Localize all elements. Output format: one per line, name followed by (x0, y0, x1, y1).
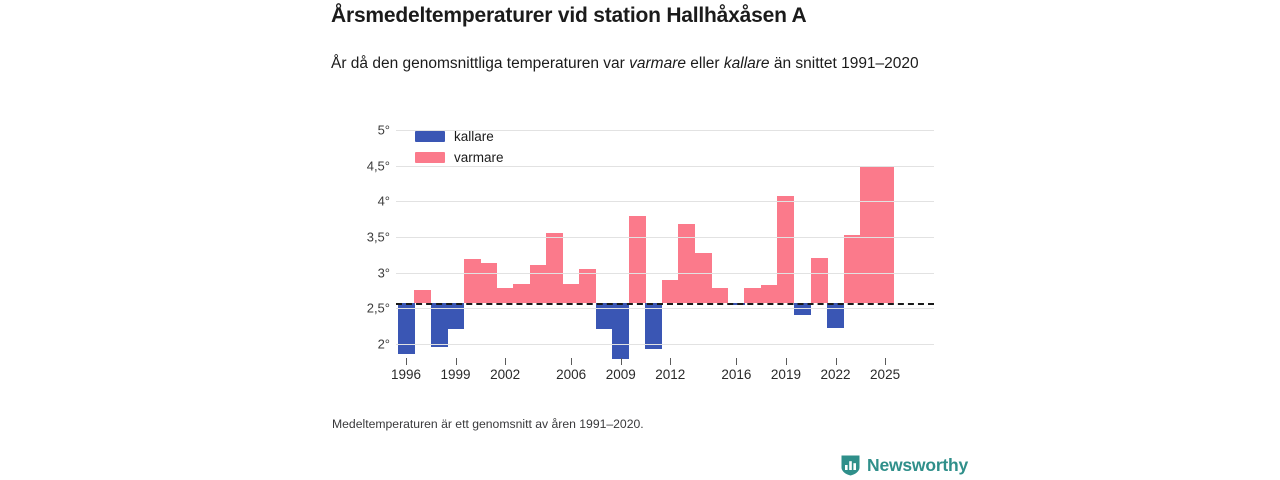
x-axis-tick (836, 358, 837, 365)
chart-page: Årsmedeltemperaturer vid station Hallhåx… (0, 0, 1280, 480)
bar-2021[interactable] (811, 258, 828, 303)
bar-2012[interactable] (662, 280, 679, 304)
average-baseline (396, 303, 934, 305)
bar-1997[interactable] (414, 290, 431, 303)
bar-2007[interactable] (579, 269, 596, 303)
x-axis-tick-label: 2009 (594, 367, 648, 382)
x-axis-tick (670, 358, 671, 365)
x-axis-tick-label: 2002 (478, 367, 532, 382)
gridline (396, 273, 934, 274)
x-axis: 1996199920022006200920122016201920222025 (396, 358, 934, 404)
gridline (396, 308, 934, 309)
y-axis-tick-label: 3° (332, 265, 390, 280)
bar-2009[interactable] (612, 303, 629, 359)
bar-2006[interactable] (563, 284, 580, 303)
y-axis-tick-label: 5° (332, 123, 390, 138)
x-axis-tick (621, 358, 622, 365)
bar-2000[interactable] (464, 259, 481, 303)
bar-2015[interactable] (711, 288, 728, 303)
bar-2010[interactable] (629, 216, 646, 304)
bar-2018[interactable] (761, 285, 778, 304)
x-axis-tick (736, 358, 737, 365)
bar-2004[interactable] (530, 265, 547, 303)
bar-2017[interactable] (744, 288, 761, 303)
x-axis-tick (885, 358, 886, 365)
newsworthy-logo[interactable]: Newsworthy (841, 455, 968, 476)
chart-plot: 2°2,5°3°3,5°4°4,5°5° 1996199920022006200… (0, 0, 1280, 480)
bar-2025[interactable] (877, 166, 894, 304)
chart-footnote: Medeltemperaturen är ett genomsnitt av å… (332, 417, 644, 431)
bar-1998[interactable] (431, 303, 448, 347)
gridline (396, 201, 934, 202)
x-axis-tick-label: 1999 (429, 367, 483, 382)
bar-2023[interactable] (844, 235, 861, 303)
x-axis-tick-label: 2025 (858, 367, 912, 382)
x-axis-tick (406, 358, 407, 365)
legend-label: varmare (454, 150, 504, 165)
bar-2003[interactable] (513, 284, 530, 303)
y-axis-tick-label: 4° (332, 194, 390, 209)
bar-2024[interactable] (860, 166, 877, 304)
gridline (396, 237, 934, 238)
bar-2019[interactable] (777, 196, 794, 304)
legend-swatch-varmare (415, 152, 445, 163)
y-axis-tick-label: 2° (332, 336, 390, 351)
newsworthy-shield-bar-chart-icon (841, 455, 860, 476)
bar-2011[interactable] (645, 303, 662, 349)
x-axis-tick-label: 1996 (379, 367, 433, 382)
x-axis-tick (786, 358, 787, 365)
bar-2002[interactable] (497, 288, 514, 303)
bar-2022[interactable] (827, 303, 844, 328)
x-axis-tick-label: 2016 (709, 367, 763, 382)
x-axis-tick (456, 358, 457, 365)
bar-2001[interactable] (480, 263, 497, 303)
gridline (396, 344, 934, 345)
legend-item-varmare[interactable]: varmare (415, 149, 504, 166)
x-axis-tick-label: 2022 (809, 367, 863, 382)
bar-2005[interactable] (546, 233, 563, 304)
y-axis-labels: 2°2,5°3°3,5°4°4,5°5° (330, 130, 390, 358)
x-axis-tick-label: 2012 (643, 367, 697, 382)
bar-2014[interactable] (695, 253, 712, 303)
legend-swatch-kallare (415, 131, 445, 142)
x-axis-tick-label: 2019 (759, 367, 813, 382)
legend-item-kallare[interactable]: kallare (415, 128, 504, 145)
x-axis-tick-label: 2006 (544, 367, 598, 382)
x-axis-tick (505, 358, 506, 365)
y-axis-tick-label: 2,5° (332, 301, 390, 316)
bar-1996[interactable] (398, 303, 415, 354)
x-axis-tick (571, 358, 572, 365)
y-axis-tick-label: 4,5° (332, 158, 390, 173)
bar-2008[interactable] (596, 303, 613, 329)
y-axis-tick-label: 3,5° (332, 229, 390, 244)
legend-label: kallare (454, 129, 494, 144)
bar-1999[interactable] (447, 303, 464, 329)
newsworthy-wordmark: Newsworthy (867, 455, 968, 476)
chart-legend: kallarevarmare (415, 128, 504, 166)
